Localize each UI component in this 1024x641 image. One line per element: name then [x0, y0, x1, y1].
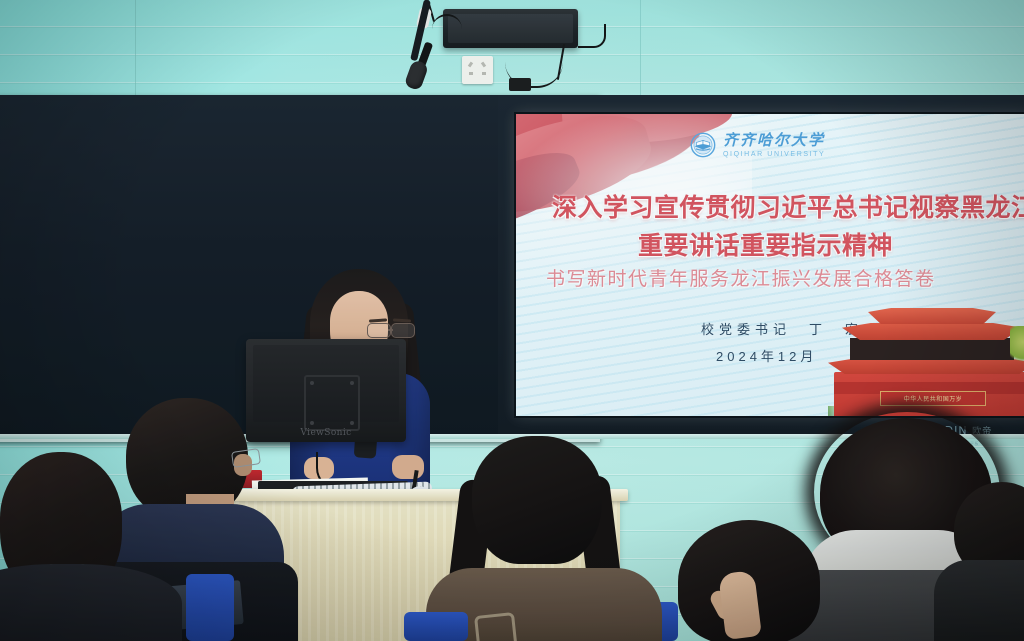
power-outlet-icon [462, 56, 493, 84]
audience-member-brown-jacket [432, 436, 652, 641]
slide-title-line-2: 重要讲话重要指示精神 [638, 226, 893, 262]
wall-seam [135, 0, 136, 96]
audience-member-raised-hand [660, 520, 850, 641]
slide-date: 2024年12月 [716, 346, 817, 365]
chair-back [186, 574, 234, 641]
classroom-photo: 齐齐哈尔大学 QIQIHAR UNIVERSITY 深入学习宣传贯彻习近平总书记… [0, 0, 1024, 641]
eyeglasses-icon [391, 323, 415, 338]
slide-title-line-1: 深入学习宣传贯彻习近平总书记视察黑龙江 [552, 188, 1024, 224]
presentation-screen[interactable]: 齐齐哈尔大学 QIQIHAR UNIVERSITY 深入学习宣传贯彻习近平总书记… [516, 114, 1024, 416]
panel-cable [578, 24, 606, 48]
eyeglasses-icon [231, 448, 261, 468]
open-book-emblem-icon [690, 132, 716, 158]
wall-mounted-panel [443, 9, 578, 48]
power-adapter-icon [509, 78, 531, 91]
speaker-hand [392, 455, 424, 479]
tiananmen-banner-text: 中华人民共和国万岁 [904, 394, 963, 403]
audience-member-right-dark [948, 482, 1024, 641]
chair-back [404, 612, 468, 641]
wall-seam [640, 0, 641, 96]
university-name-en: QIQIHAR UNIVERSITY [723, 151, 825, 158]
audience-member-left-woman [0, 452, 172, 641]
university-logo: 齐齐哈尔大学 QIQIHAR UNIVERSITY [690, 132, 825, 158]
slide-subtitle: 书写新时代青年服务龙江振兴发展合格答卷 [546, 264, 936, 291]
tiananmen-illustration: 中华人民共和国万岁 [828, 288, 1024, 416]
university-name-cn: 齐齐哈尔大学 [723, 133, 825, 148]
tiananmen-banner: 中华人民共和国万岁 [880, 391, 986, 406]
